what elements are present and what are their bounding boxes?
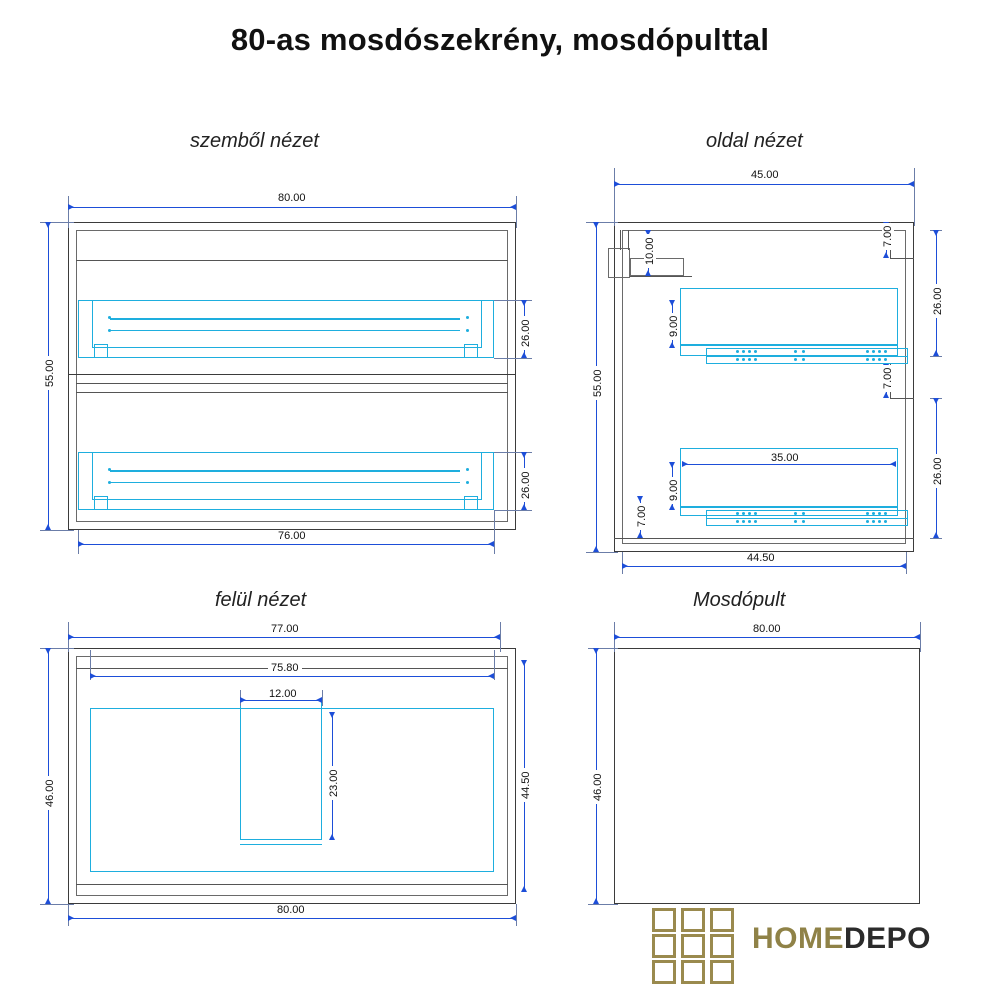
front-ext-line — [516, 196, 517, 228]
top-dim-arrow — [68, 634, 74, 640]
view-caption-counter: Mosdópult — [693, 589, 785, 612]
front-rail-dot — [108, 316, 111, 319]
top-ext-line — [494, 650, 495, 680]
side-dim-arrow — [637, 496, 643, 502]
top-dim-arrow — [45, 898, 51, 904]
front-rail-dot — [466, 329, 469, 332]
front-drawer-upper-bracket-left — [94, 344, 108, 358]
side-dim-line-depth-bottom — [622, 566, 906, 567]
side-ext-line — [614, 168, 615, 226]
side-dim-top-offset-label: 10.00 — [644, 234, 656, 268]
top-dim-arrow — [45, 648, 51, 654]
side-dim-arrow — [908, 181, 914, 187]
side-ext-line — [906, 552, 907, 574]
front-divider-line-2 — [76, 383, 508, 384]
front-top-inner-line — [76, 260, 508, 261]
side-dim-arrow — [900, 563, 906, 569]
top-dim-arrow — [68, 915, 74, 921]
front-dim-arrow — [521, 352, 527, 358]
side-fixture-line — [620, 230, 621, 250]
counter-dim-arrow — [593, 648, 599, 654]
top-dim-arrow — [240, 697, 246, 703]
side-dim-arrow — [890, 461, 896, 467]
front-drawer-lower-inner — [92, 452, 482, 500]
front-dim-arrow — [45, 524, 51, 530]
top-dim-arrow — [488, 673, 494, 679]
front-dim-drawer-lower-label: 26.00 — [520, 468, 532, 502]
front-dim-arrow — [521, 452, 527, 458]
front-dim-height-label: 55.00 — [44, 356, 56, 390]
counter-ext-line — [920, 622, 921, 652]
side-rail-upper-line — [706, 356, 908, 357]
front-drawer-lower-bracket-left — [94, 496, 108, 510]
side-dim-arrow — [933, 230, 939, 236]
front-rail-dot — [108, 468, 111, 471]
front-ext-line — [40, 530, 74, 531]
top-dim-line-outer-width — [68, 637, 500, 638]
side-drawer-lower-base — [680, 506, 898, 508]
top-sink-cutout — [240, 700, 322, 840]
front-drawer-lower-rail — [110, 470, 460, 472]
counter-dim-depth-label: 46.00 — [592, 770, 604, 804]
front-dim-arrow — [521, 300, 527, 306]
side-ext-line — [914, 168, 915, 226]
top-dim-line-bottom-width — [68, 918, 516, 919]
top-dim-bottom-width-label: 80.00 — [274, 904, 308, 916]
top-dim-arrow — [329, 834, 335, 840]
top-dim-inner-width-label: 75.80 — [268, 662, 302, 674]
brand-logo: HOMEDEPO — [652, 908, 982, 984]
side-dim-arrow — [669, 300, 675, 306]
front-drawer-upper-rail — [110, 318, 460, 320]
front-dim-width-top-label: 80.00 — [275, 192, 309, 204]
side-ext-line — [930, 538, 942, 539]
logo-text-depo: DEPO — [844, 922, 931, 955]
front-dim-arrow — [510, 204, 516, 210]
front-dim-arrow — [78, 541, 84, 547]
side-dim-arrow — [669, 342, 675, 348]
top-ext-line — [322, 690, 323, 706]
side-dim-arrow — [933, 350, 939, 356]
side-dim-arrow — [883, 392, 889, 398]
top-dim-depth-right-label: 44.50 — [520, 768, 532, 802]
front-drawer-upper-bracket-right — [464, 344, 478, 358]
front-drawer-lower-bracket-right — [464, 496, 478, 510]
view-caption-front: szemből nézet — [190, 130, 319, 153]
front-rail-dot — [466, 316, 469, 319]
top-dim-arrow — [90, 673, 96, 679]
logo-grid-icon — [652, 908, 742, 984]
top-dim-arrow — [521, 886, 527, 892]
counter-dim-line-width — [614, 637, 920, 638]
side-dim-arrow — [669, 462, 675, 468]
top-dim-cutout-depth-label: 23.00 — [328, 766, 340, 800]
top-dim-cutout-width-label: 12.00 — [266, 688, 300, 700]
front-ext-line — [494, 510, 532, 511]
top-dim-arrow — [510, 915, 516, 921]
front-dim-line-width-bottom — [78, 544, 494, 545]
front-dim-arrow — [45, 222, 51, 228]
side-dim-rail-upper-label: 9.00 — [668, 313, 680, 340]
side-top-shelf — [630, 258, 684, 276]
front-dim-width-bottom-label: 76.00 — [275, 530, 309, 542]
side-ext-line — [586, 222, 618, 223]
side-bottom-line — [614, 538, 914, 539]
front-rail-dot — [466, 468, 469, 471]
top-dim-arrow — [329, 712, 335, 718]
front-dim-arrow — [521, 504, 527, 510]
side-dim-rail-gap-upper-label: 7.00 — [882, 365, 894, 392]
front-drawer-upper-rail-2 — [110, 330, 460, 331]
side-dim-depth-top-label: 45.00 — [748, 169, 782, 181]
counter-dim-arrow — [614, 634, 620, 640]
side-top-shelf-edge — [630, 276, 692, 277]
front-drawer-lower-rail-2 — [110, 482, 460, 483]
front-divider-line-1 — [68, 374, 516, 375]
top-dim-line-inner-width — [90, 676, 494, 677]
counter-dim-width-label: 80.00 — [750, 623, 784, 635]
top-sink-cutout-edge — [240, 844, 322, 845]
top-dim-outer-width-label: 77.00 — [268, 623, 302, 635]
side-ext-line — [930, 356, 942, 357]
front-divider-line-3 — [76, 392, 508, 393]
top-ext-line — [500, 622, 501, 652]
view-caption-side: oldal nézet — [706, 130, 803, 153]
top-dim-arrow — [316, 697, 322, 703]
front-ext-line — [494, 510, 495, 554]
counter-outline — [614, 648, 920, 904]
front-ext-line — [494, 358, 532, 359]
view-caption-top: felül nézet — [215, 589, 306, 612]
side-rail-lower-line — [706, 518, 908, 519]
front-dim-arrow — [488, 541, 494, 547]
side-dim-line-depth-top — [614, 184, 914, 185]
side-dim-arrow — [933, 532, 939, 538]
side-dim-depth-bottom-label: 44.50 — [744, 552, 778, 564]
side-drawer-upper-base — [680, 344, 898, 346]
side-fixture-line — [628, 230, 629, 250]
side-dim-right-lower-label: 26.00 — [932, 454, 944, 488]
counter-dim-arrow — [593, 898, 599, 904]
side-dim-line-drawer-depth — [682, 464, 896, 465]
logo-text-home: HOME — [752, 922, 844, 955]
side-mid-line — [890, 398, 914, 399]
side-dim-arrow — [883, 252, 889, 258]
side-ext-line — [586, 552, 618, 553]
side-dim-arrow — [645, 270, 651, 276]
counter-dim-arrow — [914, 634, 920, 640]
top-dim-line-cutout-width — [240, 700, 322, 701]
side-dim-rail-gap-lower-label: 7.00 — [636, 503, 648, 530]
front-dim-drawer-upper-label: 26.00 — [520, 316, 532, 350]
logo-wordmark: HOMEDEPO — [752, 922, 931, 956]
front-drawer-upper-inner — [92, 300, 482, 348]
side-dim-arrow — [637, 532, 643, 538]
side-dim-right-upper-label: 26.00 — [932, 284, 944, 318]
side-dim-arrow — [614, 181, 620, 187]
side-dim-rail-lower-label: 9.00 — [668, 477, 680, 504]
side-dim-arrow — [669, 504, 675, 510]
front-rail-dot — [108, 329, 111, 332]
side-right-notch-line — [890, 258, 914, 259]
top-dim-depth-left-label: 46.00 — [44, 776, 56, 810]
side-top-fixture — [608, 248, 630, 278]
front-rail-dot — [466, 481, 469, 484]
side-dim-arrow — [682, 461, 688, 467]
side-dim-drawer-depth-label: 35.00 — [768, 452, 802, 464]
top-ext-line — [516, 904, 517, 926]
front-dim-arrow — [68, 204, 74, 210]
front-dim-line-width-top — [68, 207, 516, 208]
side-dim-arrow — [593, 546, 599, 552]
side-dim-arrow — [593, 222, 599, 228]
side-dim-arrow — [933, 398, 939, 404]
side-dim-height-label: 55.00 — [592, 366, 604, 400]
page-title: 80-as mosdószekrény, mosdópulttal — [0, 22, 1000, 58]
side-dim-rail-offset-top-label: 7.00 — [882, 223, 894, 250]
side-dim-arrow — [622, 563, 628, 569]
drawing-page: 80-as mosdószekrény, mosdópulttal szembő… — [0, 0, 1000, 1000]
front-ext-line — [68, 196, 69, 228]
front-rail-dot — [108, 481, 111, 484]
counter-ext-line — [588, 904, 618, 905]
top-inner-line — [76, 884, 508, 885]
top-dim-arrow — [494, 634, 500, 640]
top-dim-arrow — [521, 660, 527, 666]
